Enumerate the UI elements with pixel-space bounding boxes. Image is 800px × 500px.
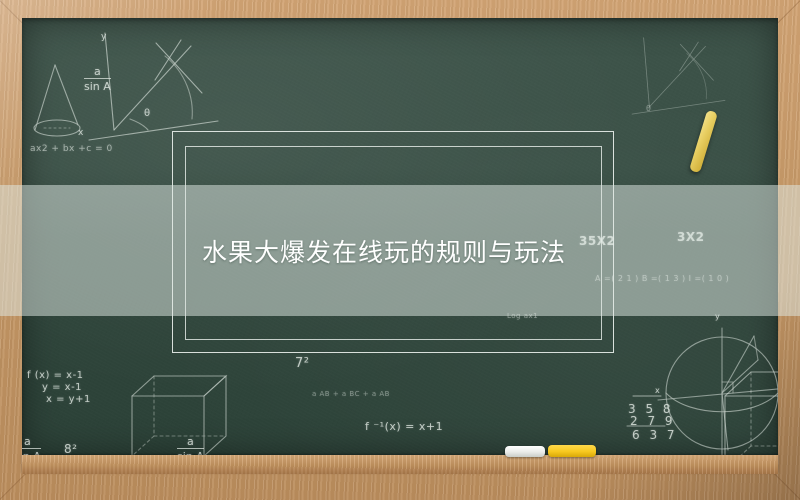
top-right-angle-drawing <box>632 38 725 114</box>
yellow-chalk-tray-icon <box>548 445 596 457</box>
chalk-function-line-3: x = y+1 <box>46 394 91 406</box>
chalk-function-line-1: f (x) = x-1 <box>27 370 84 382</box>
chalk-axis-x-label-right: x <box>655 386 660 395</box>
cone-drawing <box>34 65 80 136</box>
chalk-small-expression: a AB + a BC + a AB <box>312 390 390 398</box>
chalk-power-8: 8² <box>64 442 77 456</box>
chalk-quadratic-equation: ax2 + bx +c = 0 <box>30 144 113 154</box>
chalk-axis-y-label-left: y <box>101 32 107 42</box>
chalk-inverse-function: f ⁻¹(x) = x+1 <box>365 420 443 433</box>
chalk-axis-x-label-left: x <box>78 128 84 138</box>
chalk-arithmetic-result: 6 3 7 <box>632 428 678 442</box>
chalkboard-banner: a sin A y x θ ax2 + bx +c = 0 θ f (x) = … <box>0 0 800 500</box>
chalk-angle-label-left: θ <box>144 108 151 119</box>
chalk-fraction-a-sinA-2: a sin A <box>22 436 41 456</box>
chalk-fraction-a-sinA-1: a sin A <box>84 66 111 93</box>
page-title: 水果大爆发在线玩的规则与玩法 <box>202 233 566 269</box>
chalk-arithmetic-line2: 2 7 9 <box>630 414 676 428</box>
chalk-power-7: 7² <box>295 356 309 371</box>
white-chalk-icon <box>505 446 545 457</box>
chalk-function-line-2: y = x-1 <box>42 382 82 394</box>
title-band: 水果大爆发在线玩的规则与玩法 <box>0 185 800 316</box>
chalk-fraction-a-sinA-3: a sin A <box>177 436 204 456</box>
chalk-tray <box>22 455 778 474</box>
chalk-angle-label-top-right: θ <box>646 104 651 113</box>
